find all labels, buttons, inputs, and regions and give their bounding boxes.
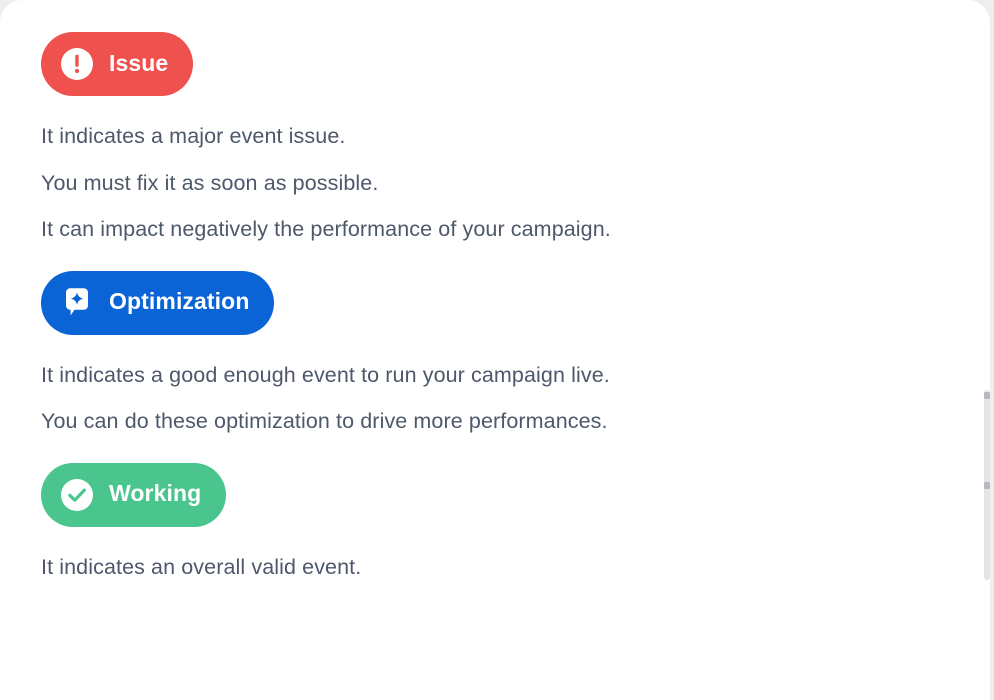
check-circle-icon <box>58 476 96 514</box>
status-badge-working[interactable]: Working <box>41 463 226 527</box>
legend-line: It can impact negatively the performance… <box>41 219 950 241</box>
exclamation-circle-icon <box>58 45 96 83</box>
status-legend-panel: Issue It indicates a major event issue. … <box>0 0 990 700</box>
legend-line: You can do these optimization to drive m… <box>41 411 950 433</box>
legend-line: It indicates a good enough event to run … <box>41 365 950 387</box>
status-badge-optimization[interactable]: Optimization <box>41 271 274 335</box>
status-badge-working-label: Working <box>109 482 201 505</box>
scrollbar-tick-top <box>984 392 990 399</box>
scrollbar-tick-bottom <box>984 482 990 489</box>
status-badge-optimization-label: Optimization <box>109 290 249 313</box>
status-badge-issue-label: Issue <box>109 52 168 75</box>
legend-section-working: Working It indicates an overall valid ev… <box>41 463 950 579</box>
legend-description-issue: It indicates a major event issue. You mu… <box>41 126 950 241</box>
legend-line: It indicates an overall valid event. <box>41 557 950 579</box>
legend-description-optimization: It indicates a good enough event to run … <box>41 365 950 433</box>
sparkle-bubble-icon <box>58 284 96 322</box>
status-legend-content: Issue It indicates a major event issue. … <box>0 0 990 643</box>
vertical-scrollbar[interactable] <box>983 0 992 668</box>
status-badge-issue[interactable]: Issue <box>41 32 193 96</box>
legend-line: It indicates a major event issue. <box>41 126 950 148</box>
legend-section-optimization: Optimization It indicates a good enough … <box>41 271 950 433</box>
legend-section-issue: Issue It indicates a major event issue. … <box>41 32 950 241</box>
legend-line: You must fix it as soon as possible. <box>41 173 950 195</box>
legend-description-working: It indicates an overall valid event. <box>41 557 950 579</box>
